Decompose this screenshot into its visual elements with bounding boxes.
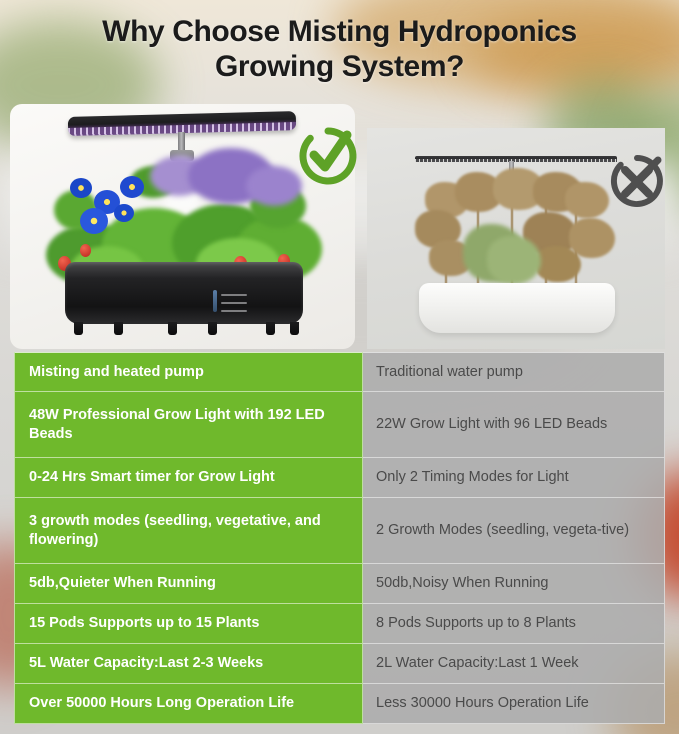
- unit-leg: [290, 322, 299, 335]
- con-cell: 50db,Noisy When Running: [363, 564, 665, 604]
- con-cell: 2 Growth Modes (seedling, vegeta-tive): [363, 498, 665, 564]
- comparison-table: Misting and heated pumpTraditional water…: [14, 352, 665, 724]
- table-row: Over 50000 Hours Long Operation LifeLess…: [14, 684, 665, 724]
- con-cell-text: 50db,Noisy When Running: [376, 574, 549, 593]
- blue-flower: [70, 178, 92, 198]
- unit-leg: [168, 322, 177, 335]
- control-panel-label: [221, 302, 247, 304]
- unit-leg: [114, 322, 123, 335]
- withered-leaf: [569, 218, 615, 258]
- page-title: Why Choose Misting Hydroponics Growing S…: [0, 14, 679, 85]
- led-strip-basic: [415, 159, 617, 162]
- withered-leaf: [535, 246, 581, 282]
- pro-cell: 3 growth modes (seedling, vegetative, an…: [14, 498, 363, 564]
- con-cell-text: 2L Water Capacity:Last 1 Week: [376, 654, 579, 673]
- unit-leg: [208, 322, 217, 335]
- check-circle-icon: [297, 125, 359, 187]
- pro-cell: 0-24 Hrs Smart timer for Grow Light: [14, 458, 363, 498]
- con-cell-text: 22W Grow Light with 96 LED Beads: [376, 415, 607, 434]
- pro-cell: Over 50000 Hours Long Operation Life: [14, 684, 363, 724]
- sparse-green-leaf: [487, 236, 541, 284]
- con-cell: 22W Grow Light with 96 LED Beads: [363, 392, 665, 458]
- pro-cell-text: 3 growth modes (seedling, vegetative, an…: [29, 512, 355, 550]
- con-cell: Only 2 Timing Modes for Light: [363, 458, 665, 498]
- con-cell: 2L Water Capacity:Last 1 Week: [363, 644, 665, 684]
- pro-cell: 15 Pods Supports up to 15 Plants: [14, 604, 363, 644]
- con-cell-text: Less 30000 Hours Operation Life: [376, 694, 589, 713]
- pro-cell: 5L Water Capacity:Last 2-3 Weeks: [14, 644, 363, 684]
- pro-cell: 48W Professional Grow Light with 192 LED…: [14, 392, 363, 458]
- con-cell-text: 2 Growth Modes (seedling, vegeta-tive): [376, 521, 629, 540]
- table-row: 5L Water Capacity:Last 2-3 Weeks2L Water…: [14, 644, 665, 684]
- con-cell: Less 30000 Hours Operation Life: [363, 684, 665, 724]
- unit-leg: [74, 322, 83, 335]
- pro-cell-text: 15 Pods Supports up to 15 Plants: [29, 614, 259, 633]
- blue-flower: [80, 208, 108, 234]
- con-cell-text: Traditional water pump: [376, 363, 523, 382]
- control-panel-label: [221, 294, 247, 296]
- con-cell: Traditional water pump: [363, 352, 665, 392]
- con-cell-text: 8 Pods Supports up to 8 Plants: [376, 614, 576, 633]
- infographic-root: Why Choose Misting Hydroponics Growing S…: [0, 0, 679, 734]
- pro-cell-text: 5db,Quieter When Running: [29, 574, 216, 593]
- control-panel-label: [221, 310, 247, 312]
- withered-leaf: [565, 182, 609, 218]
- unit-leg: [266, 322, 275, 335]
- cross-circle-icon: [608, 152, 666, 210]
- page-title-line-2: Growing System?: [0, 49, 679, 84]
- pro-cell-text: Over 50000 Hours Long Operation Life: [29, 694, 294, 713]
- blue-flower: [120, 176, 144, 198]
- table-row: Misting and heated pumpTraditional water…: [14, 352, 665, 392]
- purple-bloom: [246, 166, 302, 206]
- pro-cell-text: 5L Water Capacity:Last 2-3 Weeks: [29, 654, 263, 673]
- pro-cell-text: 0-24 Hrs Smart timer for Grow Light: [29, 468, 275, 487]
- blue-flower: [114, 204, 134, 222]
- pro-cell: Misting and heated pump: [14, 352, 363, 392]
- pro-cell-text: Misting and heated pump: [29, 363, 204, 382]
- con-cell-text: Only 2 Timing Modes for Light: [376, 468, 569, 487]
- con-unit-base: [419, 283, 615, 333]
- strawberry: [80, 244, 91, 257]
- table-row: 15 Pods Supports up to 15 Plants8 Pods S…: [14, 604, 665, 644]
- table-row: 3 growth modes (seedling, vegetative, an…: [14, 498, 665, 564]
- pro-unit-base: [65, 262, 303, 324]
- basic-grow-light-bar: [415, 156, 617, 162]
- table-row: 0-24 Hrs Smart timer for Grow LightOnly …: [14, 458, 665, 498]
- page-title-line-1: Why Choose Misting Hydroponics: [102, 15, 577, 48]
- control-panel-indicator: [213, 290, 217, 312]
- table-row: 5db,Quieter When Running50db,Noisy When …: [14, 564, 665, 604]
- table-row: 48W Professional Grow Light with 192 LED…: [14, 392, 665, 458]
- pro-cell-text: 48W Professional Grow Light with 192 LED…: [29, 406, 355, 444]
- pro-cell: 5db,Quieter When Running: [14, 564, 363, 604]
- con-cell: 8 Pods Supports up to 8 Plants: [363, 604, 665, 644]
